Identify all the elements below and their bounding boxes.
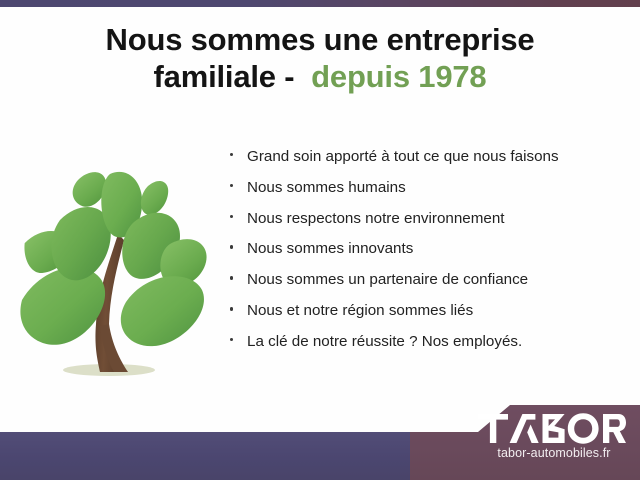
page-title: Nous sommes une entreprise familiale - d… xyxy=(0,22,640,95)
page-title-line-2: familiale - depuis 1978 xyxy=(18,59,622,96)
bullet-dot-icon xyxy=(230,215,233,218)
bullet-dot-icon xyxy=(230,338,233,341)
tree-illustration xyxy=(14,148,219,388)
list-item: Nous et notre région sommes liés xyxy=(228,302,628,320)
page-title-accent: depuis 1978 xyxy=(311,59,486,94)
list-item-label: La clé de notre réussite ? Nos employés. xyxy=(247,333,522,350)
bullet-dot-icon xyxy=(230,184,233,187)
page-title-line-1: Nous sommes une entreprise xyxy=(18,22,622,59)
brand-website-label: tabor-automobiles.fr xyxy=(478,446,630,460)
list-item-label: Nous respectons notre environnement xyxy=(247,210,505,227)
leaf-top-small-left xyxy=(73,172,106,207)
list-item: Nous sommes un partenaire de confiance xyxy=(228,271,628,289)
leaf-left-large xyxy=(20,267,105,345)
leaf-top-small-right xyxy=(141,181,168,215)
value-bullet-list: Grand soin apporté à tout ce que nous fa… xyxy=(228,148,628,364)
bullet-dot-icon xyxy=(230,245,233,248)
bullet-dot-icon xyxy=(230,307,233,310)
leaf-right-lower-large xyxy=(121,276,204,346)
bullet-dot-icon xyxy=(230,276,233,279)
list-item: Nous respectons notre environnement xyxy=(228,210,628,228)
list-item: La clé de notre réussite ? Nos employés. xyxy=(228,333,628,351)
list-item-label: Nous sommes humains xyxy=(247,179,406,196)
list-item-label: Nous sommes innovants xyxy=(247,240,413,257)
list-item: Nous sommes innovants xyxy=(228,240,628,258)
tabor-wordmark-icon xyxy=(478,413,626,444)
slide-canvas: Nous sommes une entreprise familiale - d… xyxy=(0,0,640,480)
list-item-label: Nous sommes un partenaire de confiance xyxy=(247,271,528,288)
leaf-mid-left xyxy=(51,207,110,280)
top-accent-bar xyxy=(0,0,640,7)
list-item-label: Nous et notre région sommes liés xyxy=(247,302,473,319)
list-item: Nous sommes humains xyxy=(228,179,628,197)
brand-logo[interactable]: tabor-automobiles.fr xyxy=(478,413,630,460)
bullet-dot-icon xyxy=(230,153,233,156)
page-title-line-2-plain: familiale - xyxy=(154,59,295,94)
list-item-label: Grand soin apporté à tout ce que nous fa… xyxy=(247,148,559,165)
list-item: Grand soin apporté à tout ce que nous fa… xyxy=(228,148,628,166)
